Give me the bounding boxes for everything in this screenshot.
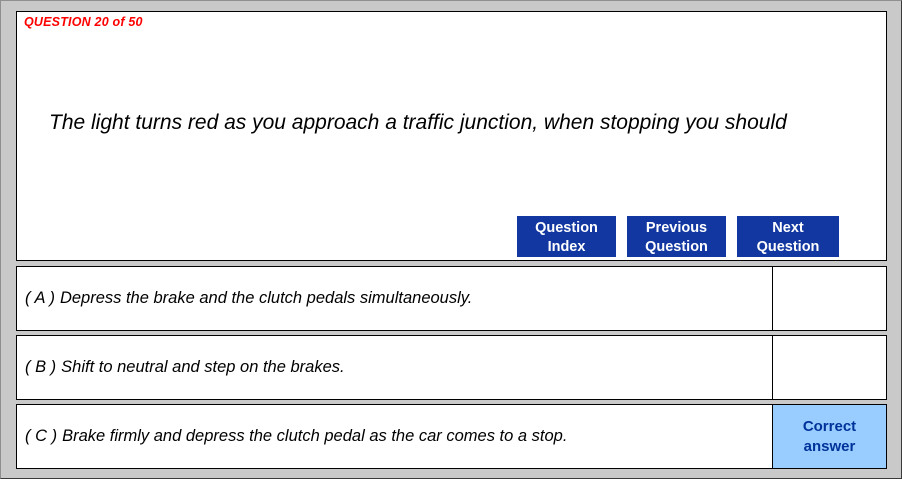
answer-option-b-text: ( B ) Shift to neutral and step on the b… [17,336,772,399]
answer-option-a-mark [772,267,886,330]
answer-option-b-mark [772,336,886,399]
navigation-button-group: Question Index Previous Question Next Qu… [517,216,839,257]
question-index-button[interactable]: Question Index [517,216,616,257]
next-question-button-line1: Next [772,219,803,238]
answer-option-a-label: Depress the brake and the clutch pedals … [60,289,472,308]
question-panel: QUESTION 20 of 50 The light turns red as… [16,11,887,261]
question-text: The light turns red as you approach a tr… [49,107,849,138]
correct-answer-badge-line1: Correct [803,417,856,437]
answer-option-b[interactable]: ( B ) Shift to neutral and step on the b… [16,335,887,400]
answer-option-a[interactable]: ( A ) Depress the brake and the clutch p… [16,266,887,331]
next-question-button[interactable]: Next Question [737,216,839,257]
answer-option-a-text: ( A ) Depress the brake and the clutch p… [17,267,772,330]
answer-option-b-label: Shift to neutral and step on the brakes. [61,358,344,377]
correct-answer-badge: Correct answer [772,405,886,468]
answer-option-c-text: ( C ) Brake firmly and depress the clutc… [17,405,772,468]
answer-option-a-letter: ( A ) [25,289,55,308]
previous-question-button[interactable]: Previous Question [627,216,726,257]
quiz-application: QUESTION 20 of 50 The light turns red as… [0,0,902,479]
question-index-button-line2: Index [548,238,586,257]
question-index-button-line1: Question [535,219,598,238]
answer-option-c-letter: ( C ) [25,427,57,446]
previous-question-button-line1: Previous [646,219,707,238]
question-counter: QUESTION 20 of 50 [24,15,143,29]
answer-option-b-letter: ( B ) [25,358,56,377]
previous-question-button-line2: Question [645,238,708,257]
answer-option-c-label: Brake firmly and depress the clutch peda… [62,427,567,446]
next-question-button-line2: Question [757,238,820,257]
correct-answer-badge-line2: answer [803,437,856,457]
answer-option-c[interactable]: ( C ) Brake firmly and depress the clutc… [16,404,887,469]
